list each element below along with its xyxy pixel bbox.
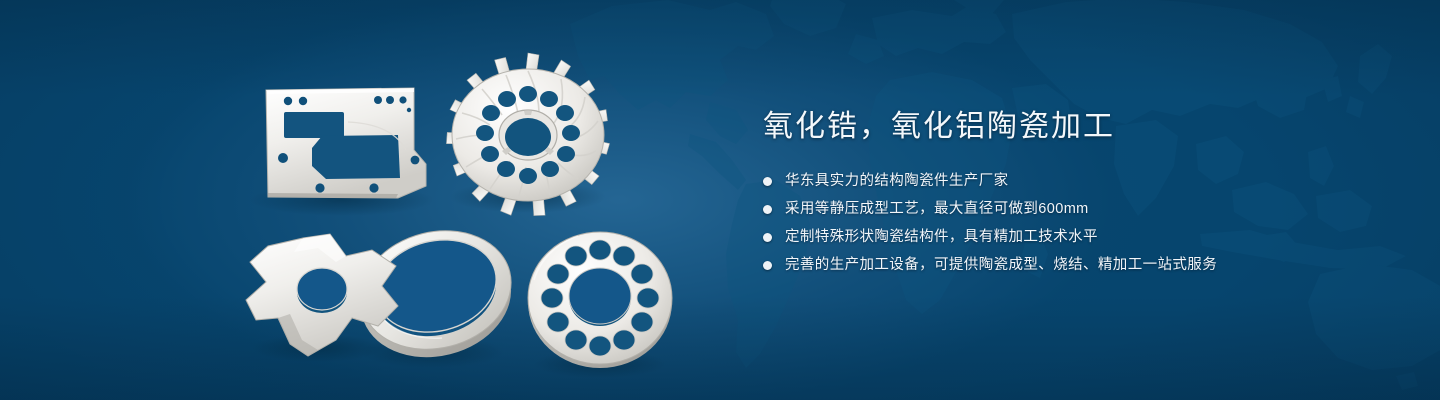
bullet-dot-icon	[763, 233, 772, 242]
list-item-label: 采用等静压成型工艺，最大直径可做到600mm	[785, 198, 1089, 220]
hero-banner: 氧化锆，氧化铝陶瓷加工 华东具实力的结构陶瓷件生产厂家 采用等静压成型工艺，最大…	[0, 0, 1440, 400]
ceramic-cross-vane	[246, 234, 398, 362]
list-item: 华东具实力的结构陶瓷件生产厂家	[763, 170, 1323, 192]
ceramic-impeller	[445, 53, 610, 217]
ceramic-machined-plate	[250, 88, 434, 216]
list-item-label: 完善的生产加工设备，可提供陶瓷成型、烧结、精加工一站式服务	[785, 254, 1217, 276]
bullet-dot-icon	[763, 205, 772, 214]
list-item: 采用等静压成型工艺，最大直径可做到600mm	[763, 198, 1323, 220]
list-item: 定制特殊形状陶瓷结构件，具有精加工技术水平	[763, 226, 1323, 248]
copy-block: 氧化锆，氧化铝陶瓷加工 华东具实力的结构陶瓷件生产厂家 采用等静压成型工艺，最大…	[763, 106, 1323, 282]
list-item: 完善的生产加工设备，可提供陶瓷成型、烧结、精加工一站式服务	[763, 254, 1323, 276]
ceramic-perforated-disc	[528, 232, 672, 378]
product-photo-cluster	[0, 0, 720, 400]
bullet-dot-icon	[763, 177, 772, 186]
bullet-dot-icon	[763, 261, 772, 270]
feature-list: 华东具实力的结构陶瓷件生产厂家 采用等静压成型工艺，最大直径可做到600mm 定…	[763, 170, 1323, 276]
list-item-label: 定制特殊形状陶瓷结构件，具有精加工技术水平	[785, 226, 1098, 248]
page-title: 氧化锆，氧化铝陶瓷加工	[763, 106, 1323, 148]
list-item-label: 华东具实力的结构陶瓷件生产厂家	[785, 170, 1009, 192]
